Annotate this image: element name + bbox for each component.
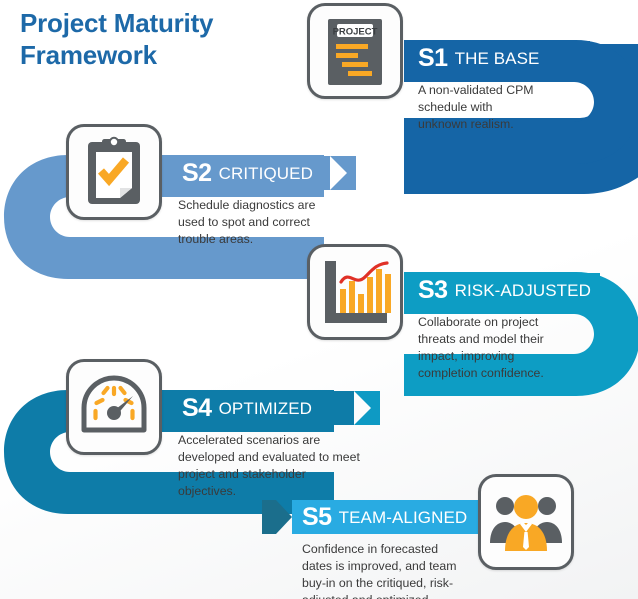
stage-s3-description: Collaborate on project threats and model… [404, 307, 572, 388]
page-title-line2: Framework [20, 40, 310, 72]
stage-s1: S1 THE BASE A non-validated CPM schedule… [404, 41, 590, 139]
stage-s3-label: RISK-ADJUSTED [455, 282, 591, 299]
stage-s2-header[interactable]: S2 CRITIQUED [168, 156, 330, 190]
stage-s3-header[interactable]: S3 RISK-ADJUSTED [404, 273, 600, 307]
stage-s3-number: S3 [418, 278, 448, 303]
stage-s2-label: CRITIQUED [219, 165, 313, 182]
stage-s2-chevron-icon [330, 156, 356, 190]
stage-s4-number: S4 [182, 396, 212, 421]
stage-s1-number: S1 [418, 46, 448, 71]
stage-s2: S2 CRITIQUED Schedule diagnostics are us… [168, 156, 358, 254]
stage-s4-header[interactable]: S4 OPTIMIZED [168, 391, 354, 425]
stage-s4-chevron-icon [354, 391, 380, 425]
stage-s5-number: S5 [302, 505, 332, 530]
icon-tile-s2[interactable] [66, 124, 162, 220]
clipboard-check-icon [80, 134, 148, 210]
stage-s5-description: Confidence in forecasted dates is improv… [262, 534, 474, 599]
stage-s2-number: S2 [182, 161, 212, 186]
icon-tile-s1[interactable]: PROJECT [307, 3, 403, 99]
stage-s5-header[interactable]: S5 TEAM-ALIGNED [292, 500, 478, 534]
stage-s1-header[interactable]: S1 THE BASE [404, 41, 590, 75]
infographic-canvas: S1 THE BASE A non-validated CPM schedule… [0, 0, 638, 599]
icon-tile-s5[interactable] [478, 474, 574, 570]
bar-chart-trend-icon [319, 257, 391, 327]
speedometer-icon [76, 372, 152, 442]
svg-text:PROJECT: PROJECT [333, 27, 378, 38]
icon-tile-s4[interactable] [66, 359, 162, 455]
project-document-icon: PROJECT [320, 13, 390, 89]
page-title-line1: Project Maturity [20, 8, 310, 40]
stage-s4: S4 OPTIMIZED Accelerated scenarios are d… [168, 391, 382, 506]
page-title: Project Maturity Framework [20, 8, 310, 71]
stage-s5: S5 TEAM-ALIGNED Confidence in forecasted… [262, 500, 478, 599]
stage-s3: S3 RISK-ADJUSTED Collaborate on project … [404, 273, 600, 388]
stage-s4-description: Accelerated scenarios are developed and … [168, 425, 366, 506]
stage-s2-description: Schedule diagnostics are used to spot an… [168, 190, 322, 254]
stage-s4-label: OPTIMIZED [219, 400, 312, 417]
stage-s1-label: THE BASE [455, 50, 540, 67]
stage-s1-description: A non-validated CPM schedule with unknow… [404, 75, 546, 139]
team-group-icon [488, 491, 564, 553]
stage-s5-label: TEAM-ALIGNED [339, 509, 468, 526]
icon-tile-s3[interactable] [307, 244, 403, 340]
stage-s5-chevron-icon [262, 500, 292, 534]
